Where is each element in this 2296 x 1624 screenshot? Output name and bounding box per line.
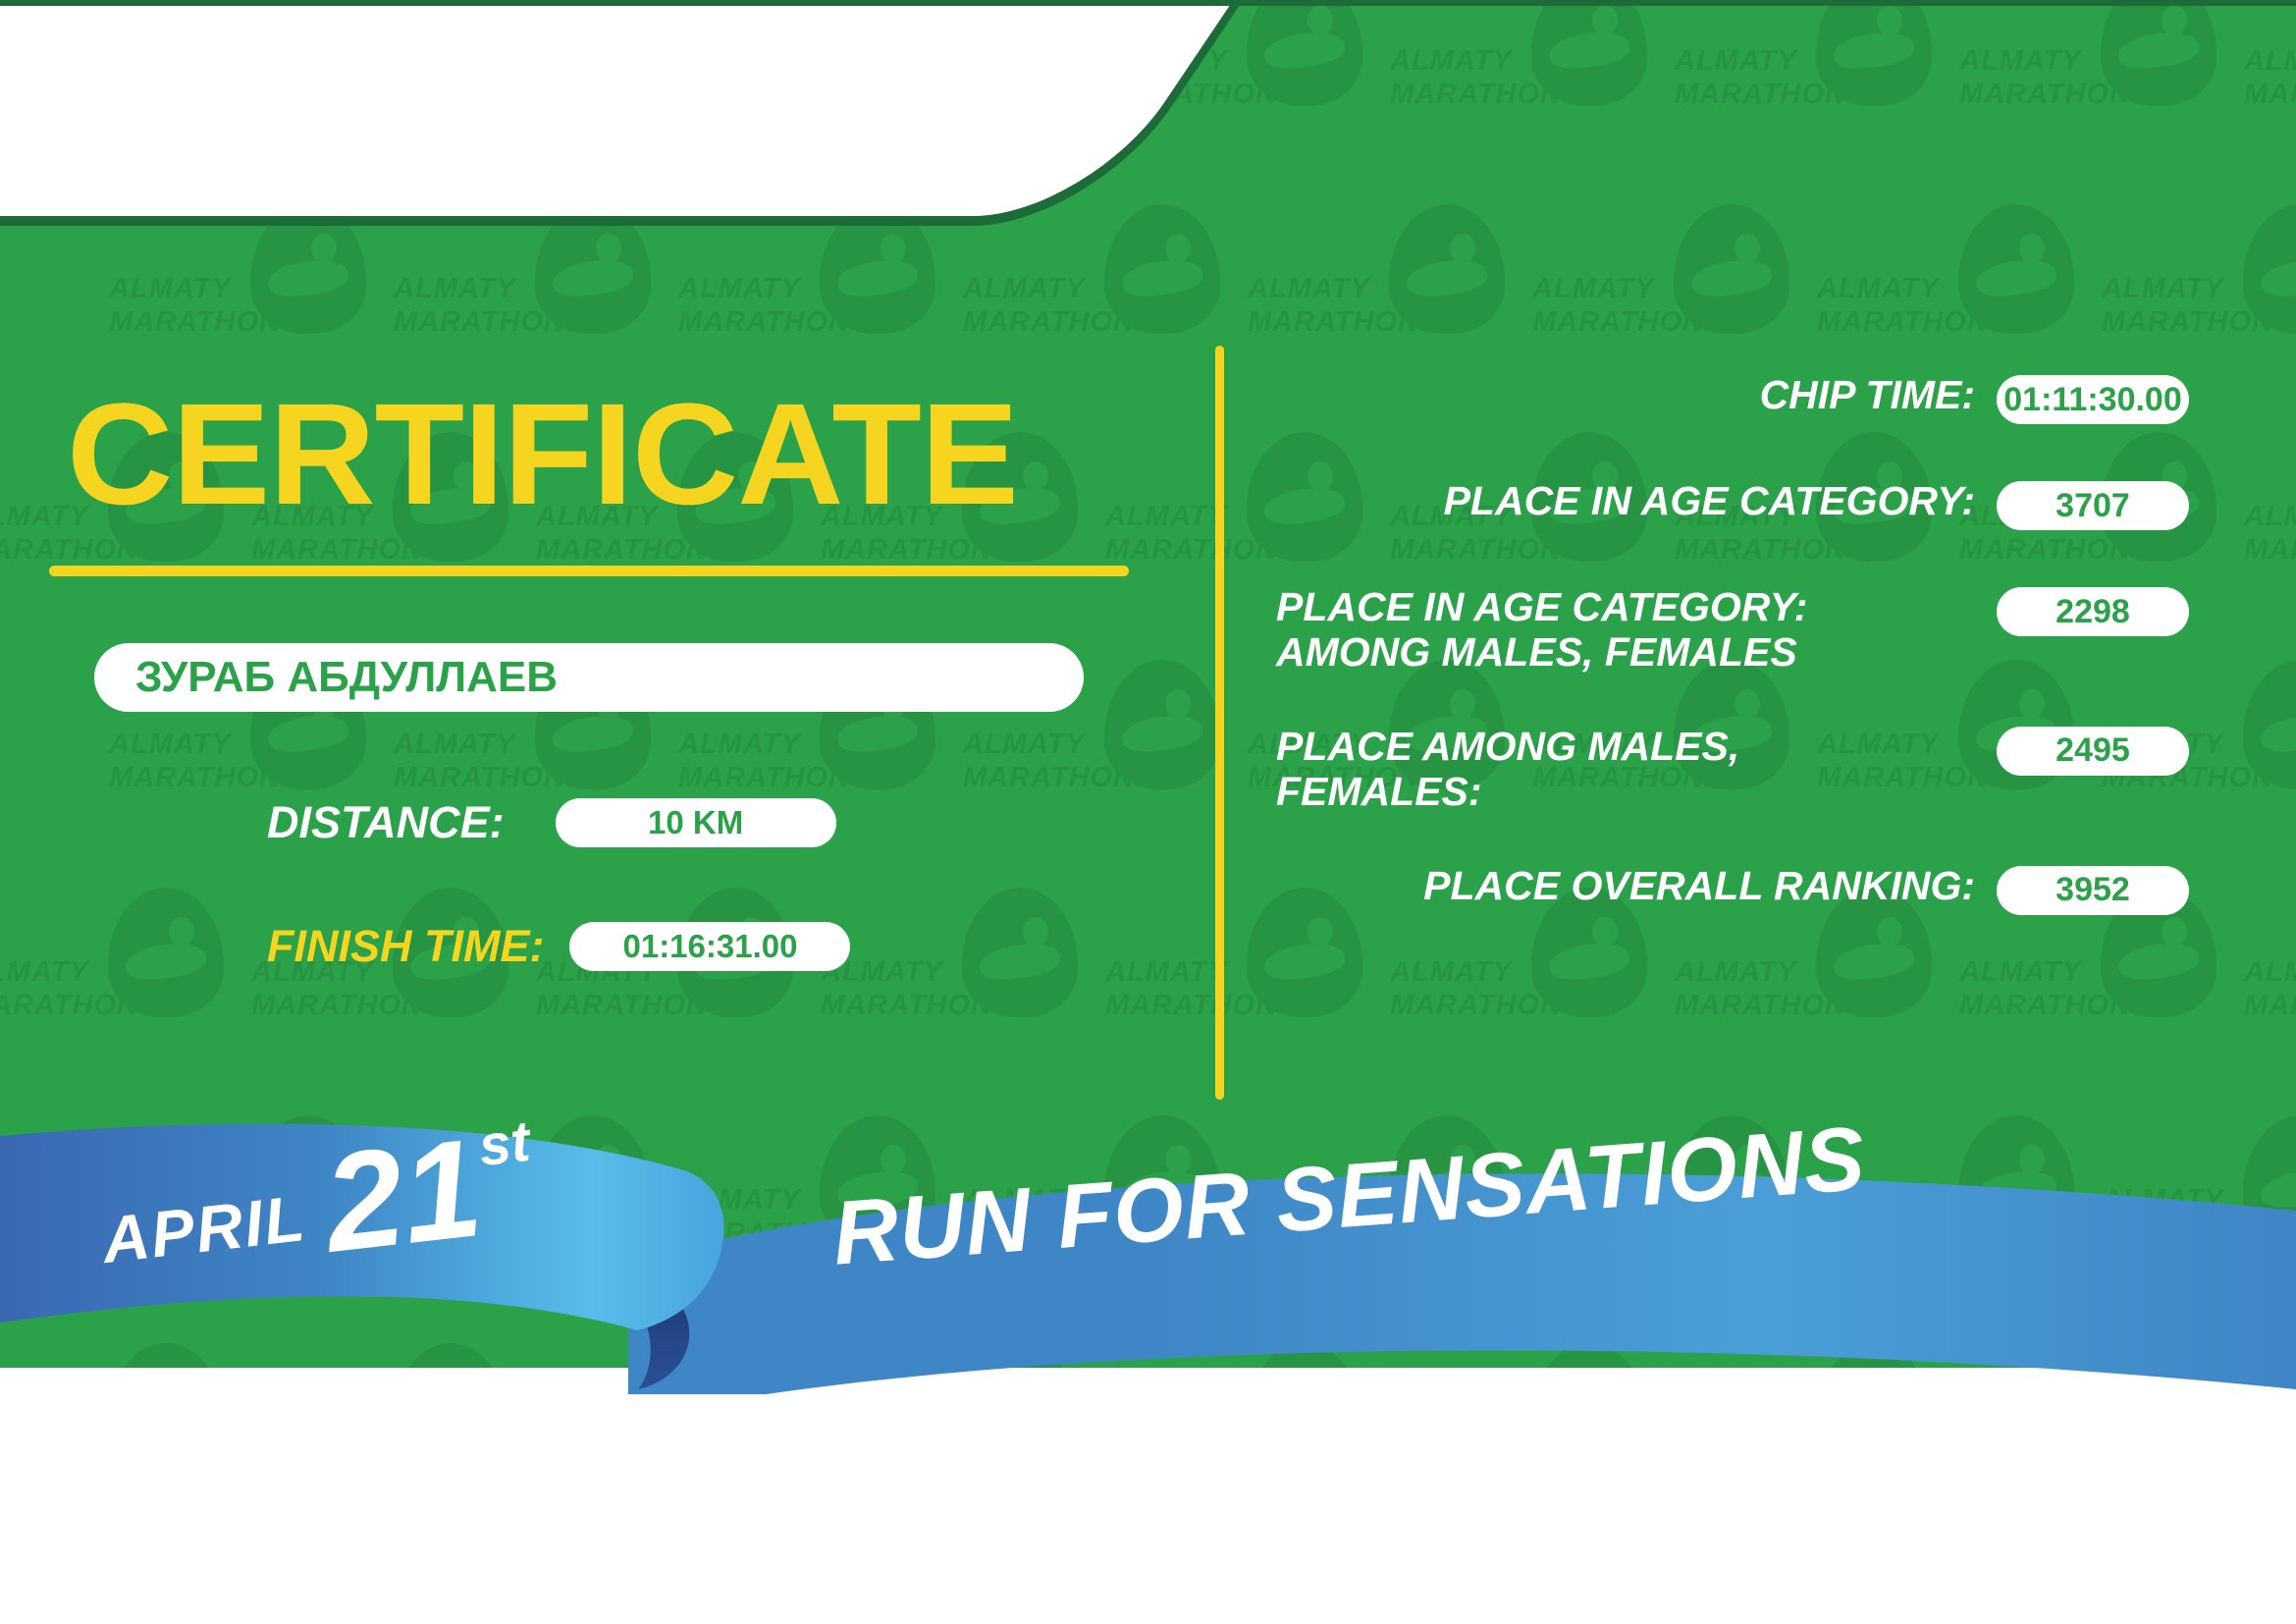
watermark-tile: ALMATYMARATHON [245,882,540,1117]
watermark-line2: MARATHON [2102,306,2273,339]
place-among-males-females-line2: FEMALES: [1276,770,1482,815]
chip-time-label-text: CHIP TIME: [1760,373,1975,418]
watermark-tile: ALMATYMARATHON [815,882,1109,1117]
watermark-line2: MARATHON [1959,990,2131,1022]
watermark-line2: MARATHON [1105,990,1277,1022]
place-age-category-value: 3707 [1997,481,2189,530]
watermark-tile: ALMATYMARATHON [1669,0,1963,206]
watermark-line2: MARATHON [1675,990,1846,1022]
place-age-category-label: PLACE IN AGE CATEGORY: [1276,479,1997,524]
watermark-line2: MARATHON [251,990,423,1022]
place-overall-ranking-label: PLACE OVERALL RANKING: [1276,864,1997,909]
watermark-line1: ALMATY [1105,956,1228,989]
finish-time-label: FINISH TIME: [267,921,544,972]
place-among-males-females-label: PLACE AMONG MALES, FEMALES: [1276,725,1997,815]
place-among-males-females-row: PLACE AMONG MALES, FEMALES: 2495 [1276,725,2189,815]
watermark-tile: ALMATYMARATHON [1384,0,1679,206]
results-list: CHIP TIME: 01:11:30.00 PLACE IN AGE CATE… [1276,373,2189,915]
place-age-category-among-line2: AMONG MALES, FEMALES [1276,630,1797,676]
event-day-suffix: st [475,1109,533,1179]
watermark-line1: ALMATY [109,729,232,761]
watermark-tile: ALMATYMARATHON [1669,882,1963,1117]
watermark-line2: MARATHON [1817,306,1989,339]
watermark-line1: ALMATY [0,956,89,989]
watermark-line2: MARATHON [251,534,423,567]
watermark-line1: ALMATY [963,729,1086,761]
place-overall-ranking-label-text: PLACE OVERALL RANKING: [1423,864,1975,909]
watermark-tile: ALMATYMARATHON [1384,882,1679,1117]
watermark-line2: MARATHON [678,762,850,794]
watermark-line2: MARATHON [1959,79,2131,111]
watermark-line2: MARATHON [1390,990,1562,1022]
place-age-category-among-line1: PLACE IN AGE CATEGORY: [1276,585,1807,630]
watermark-line2: MARATHON [1675,79,1846,111]
place-among-males-females-value: 2495 [1997,727,2189,776]
watermark-tile: ALMATYMARATHON [2238,426,2296,662]
place-age-category-among-row: PLACE IN AGE CATEGORY: AMONG MALES, FEMA… [1276,585,2189,676]
watermark-tile: ALMATYMARATHON [1953,0,2248,206]
place-age-category-label-text: PLACE IN AGE CATEGORY: [1444,479,1975,524]
distance-value: 10 KM [556,798,836,847]
watermark-tile: ALMATYMARATHON [2238,882,2296,1117]
place-age-category-among-value: 2298 [1997,587,2189,636]
watermark-line1: ALMATY [2244,501,2296,533]
vertical-divider [1215,346,1224,1100]
title-underline [49,566,1129,576]
watermark-tile: ALMATYMARATHON [530,882,825,1117]
watermark-line2: MARATHON [536,990,708,1022]
watermark-line2: MARATHON [2244,79,2296,111]
watermark-line1: ALMATY [1675,956,1797,989]
watermark-line1: ALMATY [1105,501,1228,533]
event-month: APRIL [98,1180,309,1277]
sponsor-strip: Sulpak SANOFI Empowering Life ORIFLAME S… [0,1394,2296,1624]
watermark-line2: MARATHON [0,990,138,1022]
watermark-line2: MARATHON [394,762,565,794]
watermark-line1: ALMATY [1817,273,1940,305]
watermark-tile: ALMATYMARATHON [2238,0,2296,206]
watermark-line1: ALMATY [1532,273,1655,305]
watermark-tile: ALMATYMARATHON [0,882,255,1117]
distance-row: DISTANCE: 10 KM [267,797,836,848]
place-overall-ranking-row: PLACE OVERALL RANKING: 3952 [1276,864,2189,915]
watermark-tile: ALMATYMARATHON [1099,882,1394,1117]
watermark-line1: ALMATY [394,729,516,761]
finish-time-row: FINISH TIME: 01:16:31.00 [267,921,850,972]
watermark-line2: MARATHON [1105,534,1277,567]
watermark-line2: MARATHON [963,762,1135,794]
event-day: 21 [319,1130,486,1262]
watermark-line1: ALMATY [1959,45,2082,78]
watermark-line1: ALMATY [1675,45,1797,78]
watermark-line1: ALMATY [2244,956,2296,989]
place-age-category-row: PLACE IN AGE CATEGORY: 3707 [1276,479,2189,530]
header-band [0,0,1423,314]
page-title: CERTIFICATE [67,383,1018,527]
certificate-page: ALMATYMARATHONALMATYMARATHONALMATYMARATH… [0,0,2296,1624]
watermark-line2: MARATHON [821,990,992,1022]
place-age-category-among-label: PLACE IN AGE CATEGORY: AMONG MALES, FEMA… [1276,585,1997,676]
watermark-line2: MARATHON [821,534,992,567]
top-green-rule [0,0,2296,6]
watermark-line2: MARATHON [1532,306,1704,339]
watermark-line1: ALMATY [1959,956,2082,989]
chip-time-value: 01:11:30.00 [1997,375,2189,424]
chip-time-label: CHIP TIME: [1276,373,1997,418]
distance-label: DISTANCE: [267,797,505,848]
watermark-line2: MARATHON [0,534,138,567]
watermark-line2: MARATHON [2244,534,2296,567]
header-band-fill [0,0,1247,216]
place-overall-ranking-value: 3952 [1997,866,2189,915]
participant-name-field: ЗУРАБ АБДУЛЛАЕВ [94,643,1084,712]
watermark-line1: ALMATY [678,729,801,761]
watermark-line2: MARATHON [536,534,708,567]
chip-time-row: CHIP TIME: 01:11:30.00 [1276,373,2189,424]
watermark-line1: ALMATY [1390,956,1513,989]
watermark-tile: ALMATYMARATHON [1953,882,2248,1117]
watermark-line1: ALMATY [2244,45,2296,78]
watermark-line2: MARATHON [2244,990,2296,1022]
place-among-males-females-line1: PLACE AMONG MALES, [1276,725,1739,770]
participant-name-value: ЗУРАБ АБДУЛЛАЕВ [94,653,558,702]
finish-time-value: 01:16:31.00 [569,922,850,971]
watermark-line1: ALMATY [2102,273,2224,305]
watermark-line2: MARATHON [109,762,281,794]
